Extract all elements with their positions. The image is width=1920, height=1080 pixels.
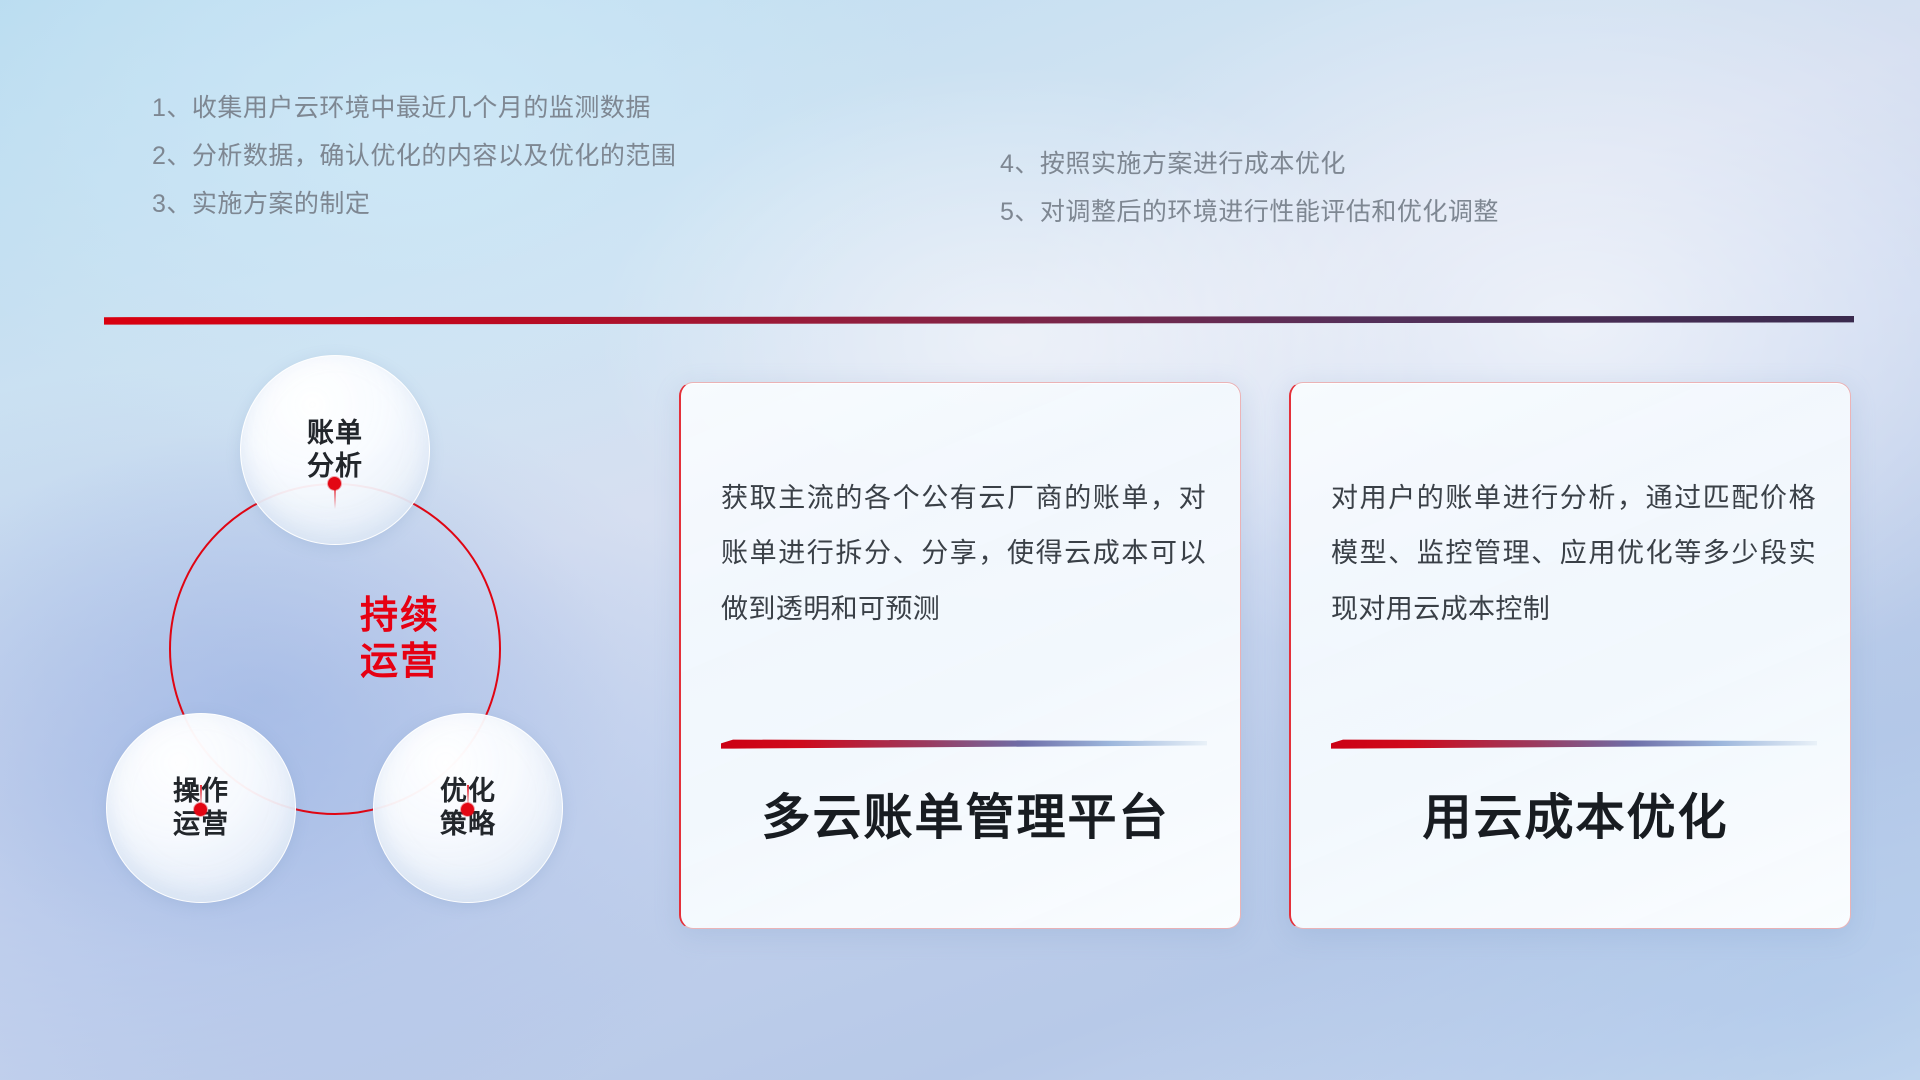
card-title: 用云成本优化 [1331, 789, 1820, 848]
card-title: 多云账单管理平台 [721, 789, 1210, 848]
card-accent-line [721, 739, 1207, 750]
card-cloud-cost-optimization[interactable]: 对用户的账单进行分析，通过匹配价格模型、监控管理、应用优化等多少段实现对用云成本… [1289, 382, 1851, 929]
node-dot-left [194, 803, 207, 816]
venn-node-label: 账单 分析 [241, 417, 429, 483]
step-item-5: 5、对调整后的环境进行性能评估和优化调整 [1000, 200, 1499, 225]
steps-right-column: 4、按照实施方案进行成本优化 5、对调整后的环境进行性能评估和优化调整 [1000, 152, 1499, 225]
slide-canvas: 1、收集用户云环境中最近几个月的监测数据 2、分析数据，确认优化的内容以及优化的… [0, 0, 1920, 1080]
card-multi-cloud-billing-platform[interactable]: 获取主流的各个公有云厂商的账单，对账单进行拆分、分享，使得云成本可以做到透明和可… [679, 382, 1241, 929]
step-item-1: 1、收集用户云环境中最近几个月的监测数据 [152, 96, 676, 121]
venn-diagram: 持续 运营 账单 分析 操作 运营 优化 策略 [95, 355, 615, 965]
card-accent-line [1331, 739, 1817, 750]
step-item-4: 4、按照实施方案进行成本优化 [1000, 152, 1499, 177]
steps-left-column: 1、收集用户云环境中最近几个月的监测数据 2、分析数据，确认优化的内容以及优化的… [152, 96, 676, 217]
card-body-text: 获取主流的各个公有云厂商的账单，对账单进行拆分、分享，使得云成本可以做到透明和可… [721, 471, 1206, 637]
section-divider [104, 316, 1854, 325]
node-dot-right [461, 803, 474, 816]
step-item-3: 3、实施方案的制定 [152, 192, 676, 217]
step-item-2: 2、分析数据，确认优化的内容以及优化的范围 [152, 144, 676, 169]
card-body-text: 对用户的账单进行分析，通过匹配价格模型、监控管理、应用优化等多少段实现对用云成本… [1331, 471, 1816, 637]
venn-center-label: 持续 运营 [335, 593, 465, 686]
node-dot-top [328, 477, 341, 490]
venn-node-billing-analysis[interactable]: 账单 分析 [240, 355, 430, 545]
